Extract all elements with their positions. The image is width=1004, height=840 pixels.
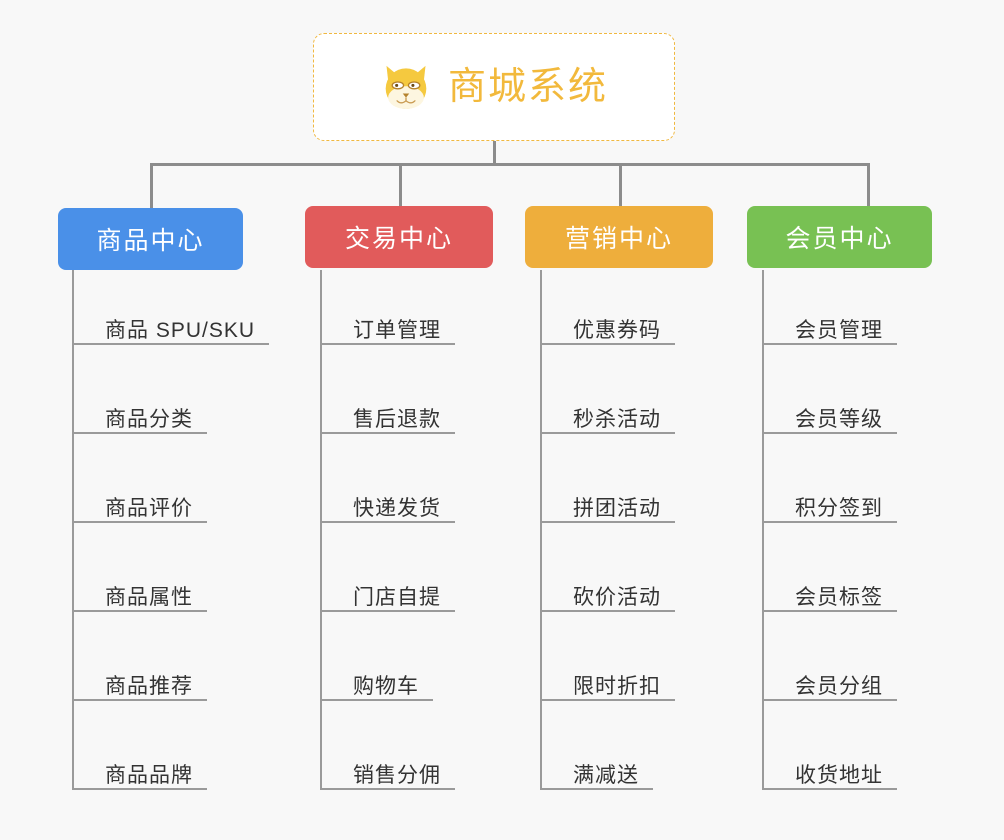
leaf-item-label: 积分签到 bbox=[795, 498, 883, 519]
leaf-item-underline bbox=[72, 521, 207, 523]
root-title: 商城系统 bbox=[448, 68, 608, 106]
leaf-trunk bbox=[762, 270, 764, 790]
leaf-item-underline bbox=[540, 521, 675, 523]
leaf-item-label: 收货地址 bbox=[795, 765, 883, 786]
branch-label-1: 商品中心 bbox=[96, 221, 204, 257]
branch-label-2: 交易中心 bbox=[345, 219, 453, 255]
leaf-item-underline bbox=[72, 343, 269, 345]
root-node[interactable]: 商城系统 bbox=[313, 33, 675, 141]
leaf-item-underline bbox=[540, 432, 675, 434]
leaf-item-label: 商品品牌 bbox=[105, 765, 193, 786]
leaf-item-underline bbox=[762, 432, 897, 434]
leaf-item-underline bbox=[762, 699, 897, 701]
leaf-item-label: 会员等级 bbox=[795, 409, 883, 430]
leaf-item-underline bbox=[320, 343, 455, 345]
leaf-item-underline bbox=[762, 610, 897, 612]
leaf-item-label: 门店自提 bbox=[353, 587, 441, 608]
leaf-item-label: 商品评价 bbox=[105, 498, 193, 519]
connector-drop-3 bbox=[619, 163, 622, 209]
leaf-item-underline bbox=[72, 610, 207, 612]
leaf-item-label: 销售分佣 bbox=[353, 765, 441, 786]
leaf-item-underline bbox=[72, 699, 207, 701]
branch-card-3[interactable]: 营销中心 bbox=[525, 206, 713, 268]
leaf-trunk bbox=[540, 270, 542, 790]
leaf-item-label: 商品推荐 bbox=[105, 676, 193, 697]
leaf-item-label: 限时折扣 bbox=[573, 676, 661, 697]
leaf-item-label: 拼团活动 bbox=[573, 498, 661, 519]
leaf-item-underline bbox=[540, 343, 675, 345]
leaf-item-label: 商品 SPU/SKU bbox=[105, 320, 255, 341]
connector-drop-1 bbox=[150, 163, 153, 209]
branch-label-3: 营销中心 bbox=[565, 219, 673, 255]
connector-bus bbox=[150, 163, 870, 166]
leaf-item-underline bbox=[540, 699, 675, 701]
leaf-item-underline bbox=[320, 788, 455, 790]
leaf-trunk bbox=[72, 270, 74, 790]
shiba-dog-icon bbox=[380, 61, 432, 113]
leaf-item-underline bbox=[762, 521, 897, 523]
leaf-item-label: 快递发货 bbox=[353, 498, 441, 519]
leaf-item-underline bbox=[762, 343, 897, 345]
leaf-item-underline bbox=[72, 788, 207, 790]
branch-card-4[interactable]: 会员中心 bbox=[747, 206, 932, 268]
leaf-item-label: 订单管理 bbox=[353, 320, 441, 341]
leaf-item-underline bbox=[72, 432, 207, 434]
leaf-item-label: 优惠券码 bbox=[573, 320, 661, 341]
branch-card-1[interactable]: 商品中心 bbox=[58, 208, 243, 270]
connector-drop-2 bbox=[399, 163, 402, 209]
leaf-item-underline bbox=[540, 788, 653, 790]
leaf-item-label: 会员标签 bbox=[795, 587, 883, 608]
leaf-item-underline bbox=[320, 432, 455, 434]
leaf-item-underline bbox=[540, 610, 675, 612]
leaf-item-label: 秒杀活动 bbox=[573, 409, 661, 430]
leaf-item-label: 售后退款 bbox=[353, 409, 441, 430]
leaf-item-label: 商品分类 bbox=[105, 409, 193, 430]
leaf-item-label: 会员管理 bbox=[795, 320, 883, 341]
leaf-item-underline bbox=[320, 521, 455, 523]
connector-drop-4 bbox=[867, 163, 870, 209]
leaf-item-label: 购物车 bbox=[353, 676, 419, 697]
leaf-item-label: 砍价活动 bbox=[573, 587, 661, 608]
leaf-trunk bbox=[320, 270, 322, 790]
mindmap-canvas: 商城系统 商品中心 交易中心 营销中心 会员中心 商品 SPU/SKU商品分类商… bbox=[0, 0, 1004, 840]
leaf-item-underline bbox=[320, 699, 433, 701]
leaf-item-label: 商品属性 bbox=[105, 587, 193, 608]
branch-card-2[interactable]: 交易中心 bbox=[305, 206, 493, 268]
branch-label-4: 会员中心 bbox=[785, 219, 893, 255]
leaf-item-label: 会员分组 bbox=[795, 676, 883, 697]
leaf-item-underline bbox=[320, 610, 455, 612]
leaf-item-underline bbox=[762, 788, 897, 790]
leaf-item-label: 满减送 bbox=[573, 765, 639, 786]
